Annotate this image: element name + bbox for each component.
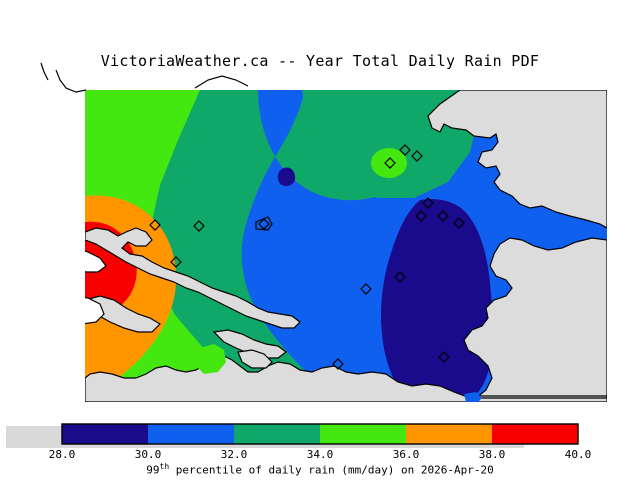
- colorbar-tick-34.0: 34.0: [307, 448, 334, 461]
- colorbar-caption: 99th percentile of daily rain (mm/day) o…: [0, 462, 640, 477]
- weather-map-page: VictoriaWeather.ca -- Year Total Daily R…: [0, 0, 640, 480]
- region-northeast-pocket: [371, 148, 407, 178]
- colorbar: 28.030.032.034.036.038.040.0 99th percen…: [0, 420, 640, 480]
- contour-map: [0, 0, 640, 412]
- contour-layer: [48, 90, 607, 404]
- colorbar-band-4: [406, 424, 492, 444]
- colorbar-band-2: [234, 424, 320, 444]
- caption-superscript: th: [160, 462, 170, 471]
- colorbar-band-5: [492, 424, 578, 444]
- coastline-fragment-outside: [41, 63, 86, 92]
- colorbar-tick-36.0: 36.0: [393, 448, 420, 461]
- colorbar-band-1: [148, 424, 234, 444]
- colorbar-swatches: [0, 420, 640, 450]
- colorbar-band-group: [62, 424, 578, 444]
- colorbar-tick-30.0: 30.0: [135, 448, 162, 461]
- colorbar-band-3: [320, 424, 406, 444]
- colorbar-tick-32.0: 32.0: [221, 448, 248, 461]
- colorbar-tick-28.0: 28.0: [49, 448, 76, 461]
- colorbar-band-0: [62, 424, 148, 444]
- colorbar-tick-38.0: 38.0: [479, 448, 506, 461]
- coastline-fragment-top: [195, 76, 248, 88]
- region-central-small-minimum: [278, 167, 295, 186]
- colorbar-tick-40.0: 40.0: [565, 448, 592, 461]
